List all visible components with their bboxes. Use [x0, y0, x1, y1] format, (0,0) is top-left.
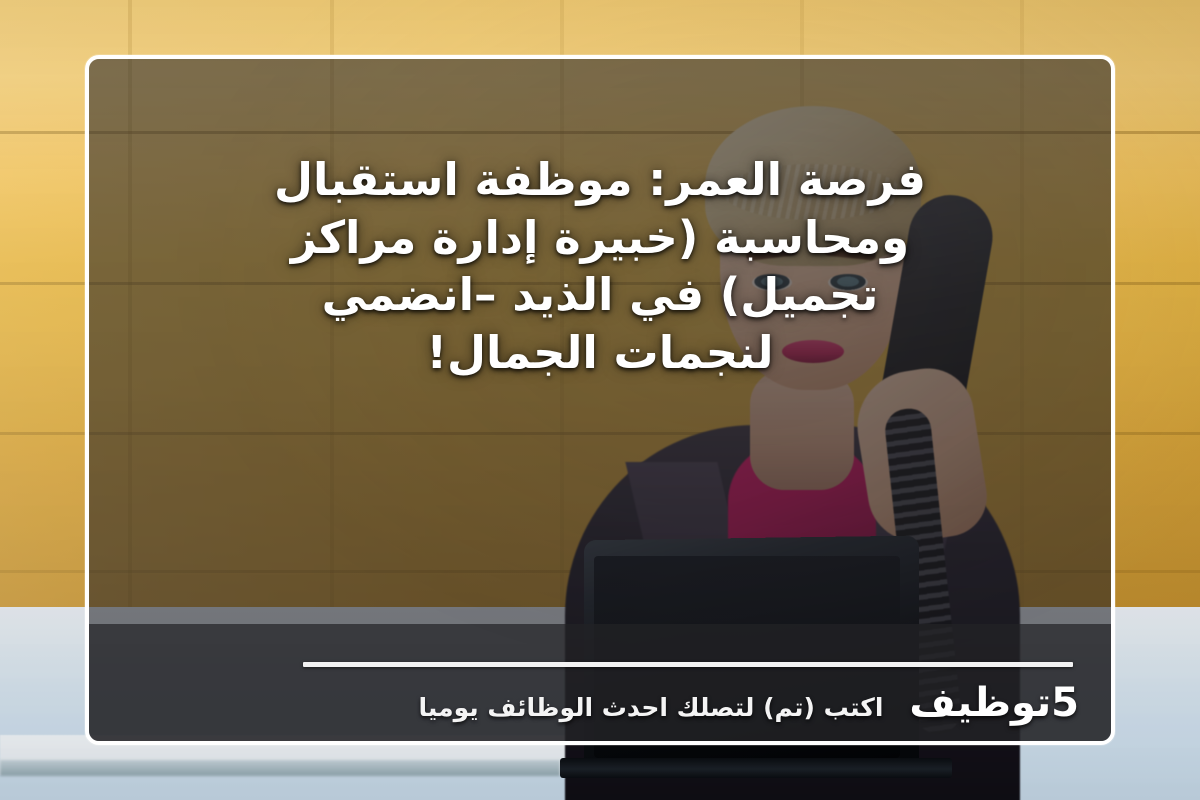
headline-line-1: فرصة العمر: موظفة استقبال: [129, 151, 1071, 209]
footer-tagline: اكتب (تم) لتصلك احدث الوظائف يوميا: [419, 694, 884, 722]
desk-front-edge: [0, 760, 560, 776]
brand-logo-text: 5توظيف: [909, 683, 1079, 723]
headline-line-2: ومحاسبة (خبيرة إدارة مراكز: [129, 209, 1071, 267]
laptop-base: [560, 758, 952, 778]
headline-line-3: تجميل) في الذيد –انضمي: [129, 266, 1071, 324]
headline-line-4: لنجمات الجمال!: [129, 324, 1071, 382]
headline: فرصة العمر: موظفة استقبال ومحاسبة (خبيرة…: [89, 151, 1111, 381]
footer-divider: [303, 662, 1073, 667]
overlay-card: فرصة العمر: موظفة استقبال ومحاسبة (خبيرة…: [85, 55, 1115, 745]
banner-stage: فرصة العمر: موظفة استقبال ومحاسبة (خبيرة…: [0, 0, 1200, 800]
footer: 5توظيف اكتب (تم) لتصلك احدث الوظائف يومي…: [89, 662, 1111, 741]
footer-row: 5توظيف اكتب (تم) لتصلك احدث الوظائف يومي…: [117, 683, 1083, 723]
